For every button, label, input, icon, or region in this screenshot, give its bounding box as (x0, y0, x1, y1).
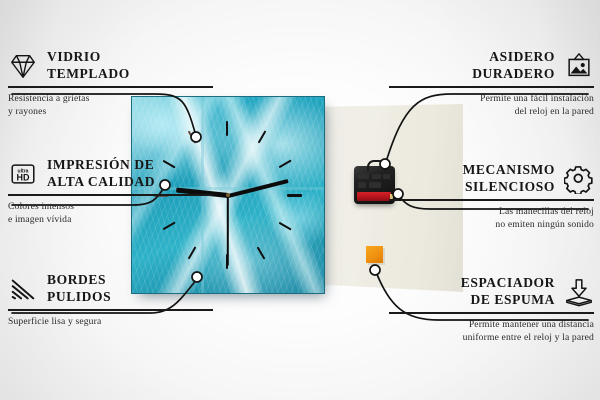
feature-title-line1: BORDES (47, 272, 111, 289)
feature-desc-line2: uniforme entre el reloj y la pared (389, 332, 594, 345)
feature-mecanismo-silencioso[interactable]: MECANISMO SILENCIOSO Las manecillas del … (389, 162, 594, 231)
feature-desc-line2: y rayones (8, 106, 213, 119)
feature-desc-line1: Superficie lisa y segura (8, 316, 213, 329)
feature-divider (8, 86, 213, 88)
feature-title: MECANISMO SILENCIOSO (463, 162, 555, 195)
picture-frame-hanger-icon (564, 51, 594, 81)
feature-espaciador-de-espuma[interactable]: ESPACIADOR DE ESPUMA Permite mantener un… (389, 275, 594, 344)
feature-description: Permite una fácil instalación del reloj … (389, 93, 594, 119)
feature-header: ASIDERO DURADERO (389, 49, 594, 82)
feature-desc-line2: del reloj en la pared (389, 106, 594, 119)
feature-title-line1: ASIDERO (472, 49, 555, 66)
feature-title-line2: PULIDOS (47, 289, 111, 306)
feature-title: ASIDERO DURADERO (472, 49, 555, 82)
feature-title: BORDES PULIDOS (47, 272, 111, 305)
feature-title-line2: SILENCIOSO (463, 179, 555, 196)
feature-description: Superficie lisa y segura (8, 316, 213, 329)
feature-description: Las manecillas del reloj no emiten ningú… (389, 206, 594, 232)
feature-desc-line1: Colores intensos (8, 201, 213, 214)
feature-header: VIDRIO TEMPLADO (8, 49, 213, 82)
feature-title-line2: DURADERO (472, 66, 555, 83)
feature-divider (8, 309, 213, 311)
feature-title-line1: IMPRESIÓN DE (47, 157, 155, 174)
feature-description: Resistencia a grietas y rayones (8, 93, 213, 119)
feature-header: ESPACIADOR DE ESPUMA (389, 275, 594, 308)
ultra-hd-icon-large-text: HD (17, 172, 30, 182)
feature-desc-line1: Permite una fácil instalación (389, 93, 594, 106)
feature-title-line1: VIDRIO (47, 49, 130, 66)
feature-desc-line1: Resistencia a grietas (8, 93, 213, 106)
feature-divider (8, 194, 213, 196)
feature-divider (389, 312, 594, 314)
feature-header: ultra HD IMPRESIÓN DE ALTA CALIDAD (8, 157, 213, 190)
feature-divider (389, 86, 594, 88)
feature-desc-line1: Permite mantener una distancia (389, 319, 594, 332)
feature-title: ESPACIADOR DE ESPUMA (461, 275, 555, 308)
feature-title-line2: ALTA CALIDAD (47, 174, 155, 191)
feature-bordes-pulidos[interactable]: BORDES PULIDOS Superficie lisa y segura (8, 272, 213, 329)
feature-title-line2: DE ESPUMA (461, 292, 555, 309)
feature-header: MECANISMO SILENCIOSO (389, 162, 594, 195)
diagonal-stripes-icon (8, 274, 38, 304)
ultra-hd-icon: ultra HD (8, 159, 38, 189)
arrow-down-pad-icon (564, 277, 594, 307)
feature-title: IMPRESIÓN DE ALTA CALIDAD (47, 157, 155, 190)
gear-icon (564, 164, 594, 194)
feature-description: Colores intensos e imagen vívida (8, 201, 213, 227)
node-vidrio (191, 132, 201, 142)
feature-title-line1: ESPACIADOR (461, 275, 555, 292)
feature-impresion-alta-calidad[interactable]: ultra HD IMPRESIÓN DE ALTA CALIDAD Color… (8, 157, 213, 226)
feature-desc-line2: e imagen vívida (8, 214, 213, 227)
feature-asidero-duradero[interactable]: ASIDERO DURADERO Permite una fácil insta… (389, 49, 594, 118)
infographic-canvas: VIDRIO TEMPLADO Resistencia a grietas y … (0, 0, 600, 400)
feature-divider (389, 199, 594, 201)
feature-desc-line2: no emiten ningún sonido (389, 219, 594, 232)
feature-header: BORDES PULIDOS (8, 272, 213, 305)
node-espaciador (370, 265, 380, 275)
feature-desc-line1: Las manecillas del reloj (389, 206, 594, 219)
feature-vidrio-templado[interactable]: VIDRIO TEMPLADO Resistencia a grietas y … (8, 49, 213, 118)
diamond-icon (8, 51, 38, 81)
feature-title-line1: MECANISMO (463, 162, 555, 179)
feature-title-line2: TEMPLADO (47, 66, 130, 83)
feature-title: VIDRIO TEMPLADO (47, 49, 130, 82)
feature-description: Permite mantener una distancia uniforme … (389, 319, 594, 345)
